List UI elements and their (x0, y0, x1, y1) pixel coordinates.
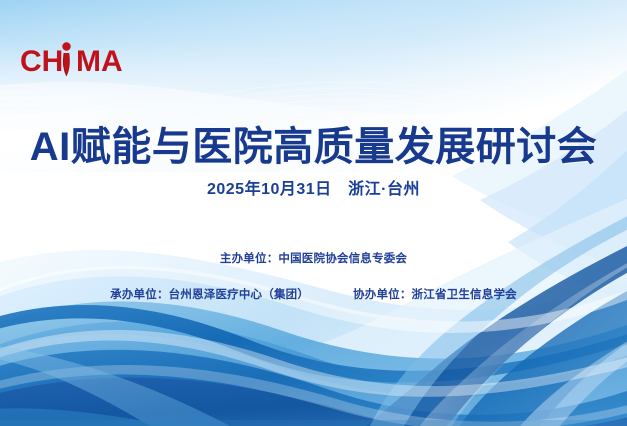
logo-person-figure (62, 42, 70, 76)
chima-logo: CH MA (20, 41, 140, 81)
undertaker-organizer: 承办单位：台州恩泽医疗中心（集团） (110, 287, 309, 304)
page-title: AI赋能与医院高质量发展研讨会 (0, 122, 627, 172)
organizer-row: 承办单位：台州恩泽医疗中心（集团） 协办单位：浙江省卫生信息学会 (0, 287, 627, 304)
date-location: 2025年10月31日 浙江·台州 (0, 179, 627, 201)
host-organizer: 主办单位：中国医院协会信息专委会 (0, 251, 627, 268)
conference-poster: CH MA AI赋能与医院高质量发展研讨会 2025年10月31日 浙江·台州 … (0, 0, 627, 426)
logo-letters-before: CH (20, 45, 63, 78)
coorganizer: 协办单位：浙江省卫生信息学会 (353, 287, 517, 304)
logo-letters-after: MA (76, 45, 123, 78)
chima-logo-icon: CH MA (20, 41, 140, 81)
